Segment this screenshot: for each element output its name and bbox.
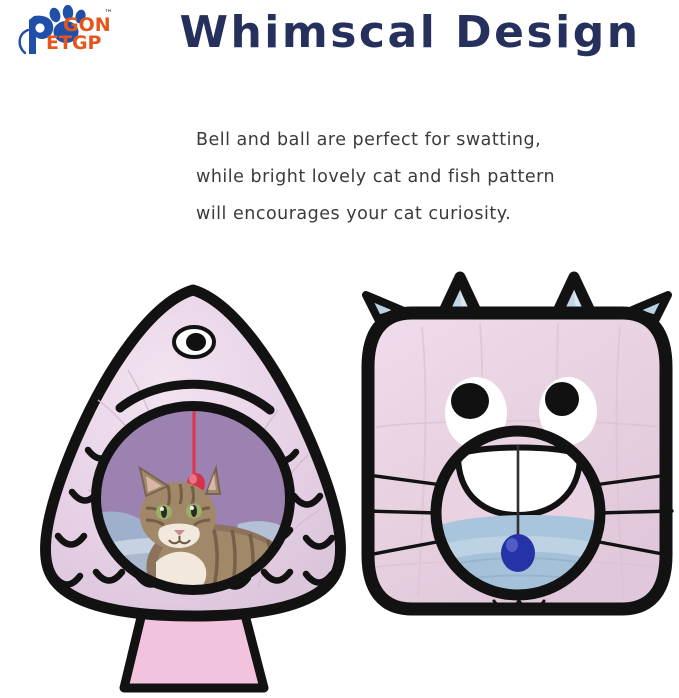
brand-name-bottom: ETGP xyxy=(46,32,102,54)
description-line-2: while bright lovely cat and fish pattern xyxy=(196,159,616,196)
fish-eye-icon xyxy=(174,327,214,357)
page-title: Whimscal Design xyxy=(160,8,660,59)
blue-ball-toy xyxy=(501,534,535,572)
product-image-stage: Pink fish shaped pop-up cat tent with a … xyxy=(0,255,679,698)
trademark-symbol: ™ xyxy=(104,9,113,19)
brand-logo: GON ETGP ™ xyxy=(8,4,128,60)
description-line-3: will encourages your cat curiosity. xyxy=(196,196,616,233)
product-image-fish-tent: Pink fish shaped pop-up cat tent with a … xyxy=(28,280,358,698)
description-text: Bell and ball are perfect for swatting, … xyxy=(196,122,616,232)
product-image-cat-tent: Pink rounded square cat face pop-up tent… xyxy=(352,267,679,647)
description-line-1: Bell and ball are perfect for swatting, xyxy=(196,122,616,159)
marketing-banner: GON ETGP ™ Whimscal Design Bell and ball… xyxy=(0,0,679,698)
